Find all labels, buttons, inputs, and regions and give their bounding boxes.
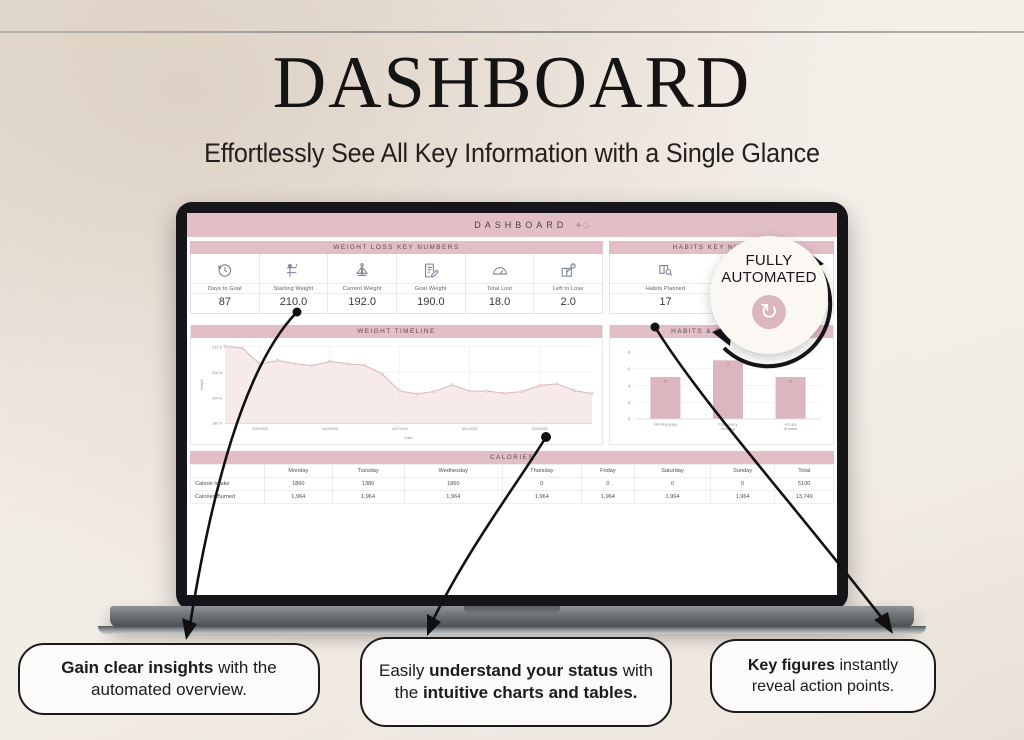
kpi-days-to-goal[interactable]: Days to Goal 87 (191, 254, 260, 313)
column-header (191, 465, 265, 478)
callout-figures: Key figures instantly reveal action poin… (710, 639, 936, 713)
calories-section: CALORIES MondayTuesdayWednesdayThursdayF… (190, 451, 834, 504)
kpi-label: Days to Goal (191, 283, 259, 293)
column-header: Monday (265, 465, 333, 478)
svg-text:2: 2 (628, 400, 631, 405)
balance-scale-icon (328, 257, 396, 283)
svg-text:5/25/2025: 5/25/2025 (532, 427, 548, 431)
table-cell: 1,964 (635, 491, 711, 504)
svg-text:3/30/2025: 3/30/2025 (252, 427, 268, 431)
spreadsheet-title: DASHBOARD (474, 220, 567, 230)
kpi-starting-weight[interactable]: Starting Weight 210.0 (260, 254, 329, 313)
kpi-value: 192.0 (328, 293, 396, 311)
kpi-total-lost[interactable]: Total Lost 18.0 (466, 254, 535, 313)
column-header: Total (775, 465, 834, 478)
calories-table: MondayTuesdayWednesdayThursdayFridaySatu… (190, 464, 834, 504)
table-cell: 1,964 (332, 491, 404, 504)
svg-text:5/11/2025: 5/11/2025 (462, 427, 478, 431)
callout-bold-2: intuitive charts and tables. (423, 683, 637, 702)
refresh-icon: ↻ (752, 295, 786, 329)
svg-text:Weight: Weight (200, 379, 204, 390)
weight-timeline-plot[interactable]: 180.0190.0200.0210.03/30/20254/13/20254/… (191, 338, 602, 444)
fully-automated-badge: FULLY AUTOMATED ↻ (694, 224, 842, 372)
table-cell: 1,964 (581, 491, 635, 504)
column-header: Wednesday (404, 465, 502, 478)
weight-kpi-grid: Days to Goal 87 Starting Weight 210.0 (190, 254, 603, 314)
callout-bold-1: understand your status (429, 661, 618, 680)
clock-progress-icon (191, 257, 259, 283)
callout-bold: Key figures (748, 657, 835, 674)
kpi-value: 87 (191, 293, 259, 311)
svg-text:4 Cups: 4 Cups (785, 422, 797, 426)
kpi-label: Total Lost (466, 283, 534, 293)
calories-title: CALORIES (190, 451, 834, 464)
table-cell: 5100 (775, 478, 834, 491)
column-header: Tuesday (332, 465, 404, 478)
svg-text:4/13/2025: 4/13/2025 (322, 427, 338, 431)
kpi-value: 2.0 (534, 293, 602, 311)
weight-section-title: WEIGHT LOSS KEY NUMBERS (190, 241, 603, 254)
svg-text:6: 6 (628, 367, 631, 372)
table-cell: 0 (710, 478, 775, 491)
table-cell: 1860 (265, 478, 333, 491)
page-title: DASHBOARD (0, 46, 1024, 120)
sparkle-icon: ✧·⁚· (575, 221, 590, 230)
table-cell: 0 (503, 478, 582, 491)
row-label: Calories Burned (191, 491, 265, 504)
kpi-label: Current Weight (328, 283, 396, 293)
table-cell: 1,964 (503, 491, 582, 504)
svg-text:210.0: 210.0 (212, 344, 223, 349)
weight-timeline-title: WEIGHT TIMELINE (191, 325, 602, 338)
kpi-label: Starting Weight (260, 283, 328, 293)
top-divider (0, 31, 1024, 33)
weight-scale-icon (534, 257, 602, 283)
badge-line-1: FULLY (745, 252, 792, 269)
column-header: Saturday (635, 465, 711, 478)
svg-text:190.0: 190.0 (212, 395, 223, 400)
svg-text:200.0: 200.0 (212, 370, 223, 375)
table-cell: 0 (635, 478, 711, 491)
badge-body: FULLY AUTOMATED ↻ (710, 236, 828, 354)
laptop-base-foot (98, 626, 926, 634)
svg-text:Date: Date (405, 436, 413, 440)
column-header: Sunday (710, 465, 775, 478)
kpi-value: 210.0 (260, 293, 328, 311)
laptop-base (110, 606, 914, 628)
svg-text:4: 4 (628, 383, 631, 388)
kpi-label: Left to Lose (534, 283, 602, 293)
svg-text:Morning yoga: Morning yoga (654, 422, 677, 426)
table-cell: 1860 (404, 478, 502, 491)
weight-timeline-card: WEIGHT TIMELINE 180.0190.0200.0210.03/30… (190, 325, 603, 445)
svg-text:4/27/2025: 4/27/2025 (392, 427, 408, 431)
svg-text:morning: morning (721, 427, 734, 431)
table-header-row: MondayTuesdayWednesdayThursdayFridaySatu… (191, 465, 834, 478)
table-cell: 0 (581, 478, 635, 491)
table-cell: 1,964 (710, 491, 775, 504)
page-subtitle: Effortlessly See All Key Information wit… (36, 138, 988, 169)
svg-text:180.0: 180.0 (212, 421, 223, 426)
table-cell: 1380 (332, 478, 404, 491)
clipboard-pencil-icon (397, 257, 465, 283)
kpi-value: 18.0 (466, 293, 534, 311)
svg-text:5: 5 (664, 380, 666, 384)
kpi-current-weight[interactable]: Current Weight 192.0 (328, 254, 397, 313)
callout-insights: Gain clear insights with the automated o… (18, 643, 320, 715)
table-cell: 1,964 (265, 491, 333, 504)
weight-kpi-panel: WEIGHT LOSS KEY NUMBERS Days to Goal 87 (190, 241, 603, 321)
kpi-label: Goal Weight (397, 283, 465, 293)
column-header: Thursday (503, 465, 582, 478)
kpi-left-to-lose[interactable]: Left to Lose 2.0 (534, 254, 602, 313)
row-label: Calorie Intake (191, 478, 265, 491)
callout-bold: Gain clear insights (61, 658, 213, 677)
svg-text:Floss every: Floss every (719, 422, 738, 426)
svg-text:of water: of water (784, 427, 798, 431)
callout-status: Easily understand your status with the i… (360, 637, 672, 727)
goal-flag-icon (260, 257, 328, 283)
svg-text:0: 0 (628, 417, 631, 422)
gauge-icon (466, 257, 534, 283)
table-cell: 13,749 (775, 491, 834, 504)
svg-text:8: 8 (628, 350, 631, 355)
badge-line-2: AUTOMATED (721, 269, 816, 286)
callout-prefix: Easily (379, 661, 429, 680)
table-row: Calories Burned1,9641,9641,9641,9641,964… (191, 491, 834, 504)
kpi-goal-weight[interactable]: Goal Weight 190.0 (397, 254, 466, 313)
svg-text:5: 5 (790, 380, 792, 384)
table-cell: 1,964 (404, 491, 502, 504)
column-header: Friday (581, 465, 635, 478)
table-row: Calorie Intake18601380186000005100 (191, 478, 834, 491)
kpi-value: 190.0 (397, 293, 465, 311)
